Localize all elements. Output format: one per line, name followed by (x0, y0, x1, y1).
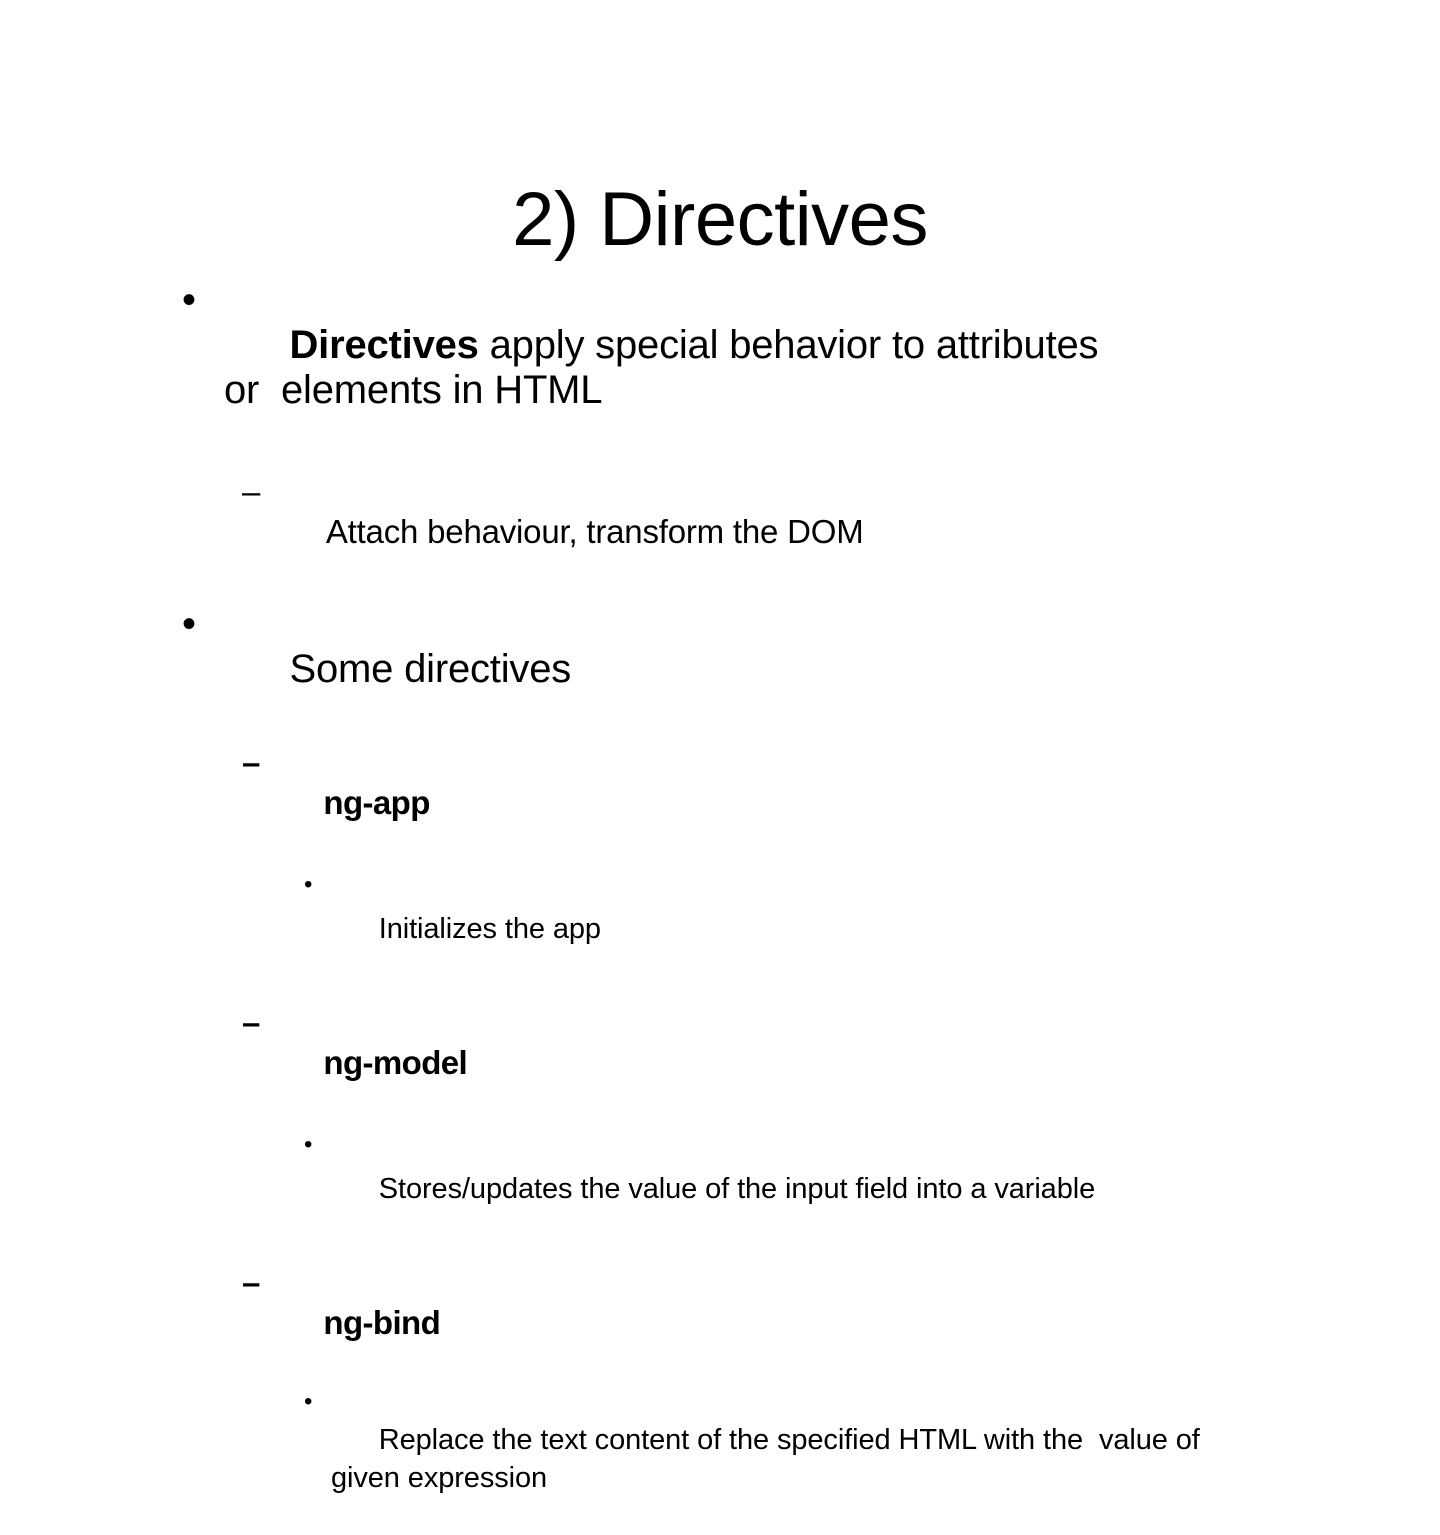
bullet-text: Some directives (289, 647, 571, 691)
bullet-dot-icon: • (182, 602, 196, 647)
bullet-level1-some-directives: •Some directives (176, 602, 1104, 737)
bullet-dash-icon: – (242, 1263, 260, 1303)
bullet-level2-attach-behaviour: –Attach behaviour, transform the DOM (176, 472, 1212, 592)
bullet-dot-icon: • (304, 863, 312, 907)
bullet-text: Initializes the app (379, 913, 601, 945)
spacer (176, 458, 1276, 472)
bullet-text: Replace the text content of the specifie… (331, 1424, 1208, 1494)
spacer (176, 592, 1276, 602)
bullet-level2-ng-app: –ng-app (176, 743, 1212, 863)
bullet-text: ng-model (323, 1044, 467, 1081)
bullet-dot-icon: • (182, 278, 196, 323)
bullet-level3-replace-text-content: •Replace the text content of the specifi… (176, 1383, 1276, 1535)
bullet-dash-icon: – (242, 1003, 260, 1043)
bullet-level2-ng-bind: –ng-bind (176, 1263, 1212, 1383)
spacer (176, 1255, 1276, 1263)
slide-body-content: •Directives apply special behavior to at… (176, 278, 1276, 1535)
bullet-dash-icon: – (242, 743, 260, 783)
bullet-dot-icon: • (304, 1123, 312, 1167)
bullet-level2-ng-model: –ng-model (176, 1003, 1212, 1123)
slide-title: 2) Directives (0, 177, 1440, 263)
bullet-lead-emphasis: Directives (289, 323, 478, 367)
bullet-level3-initializes-the-app: •Initializes the app (176, 863, 1276, 995)
bullet-text: ng-app (323, 784, 429, 821)
bullet-dot-icon: • (304, 1383, 312, 1421)
bullet-level3-stores-updates-value: •Stores/updates the value of the input f… (176, 1123, 1276, 1255)
spacer (176, 995, 1276, 1003)
bullet-dash-icon: – (242, 472, 260, 512)
bullet-text: Attach behaviour, transform the DOM (326, 513, 864, 550)
bullet-text: Stores/updates the value of the input fi… (379, 1173, 1095, 1205)
bullet-level1-directives: •Directives apply special behavior to at… (176, 278, 1104, 458)
bullet-text: ng-bind (323, 1304, 440, 1341)
presentation-slide: 2) Directives •Directives apply special … (0, 0, 1440, 1018)
